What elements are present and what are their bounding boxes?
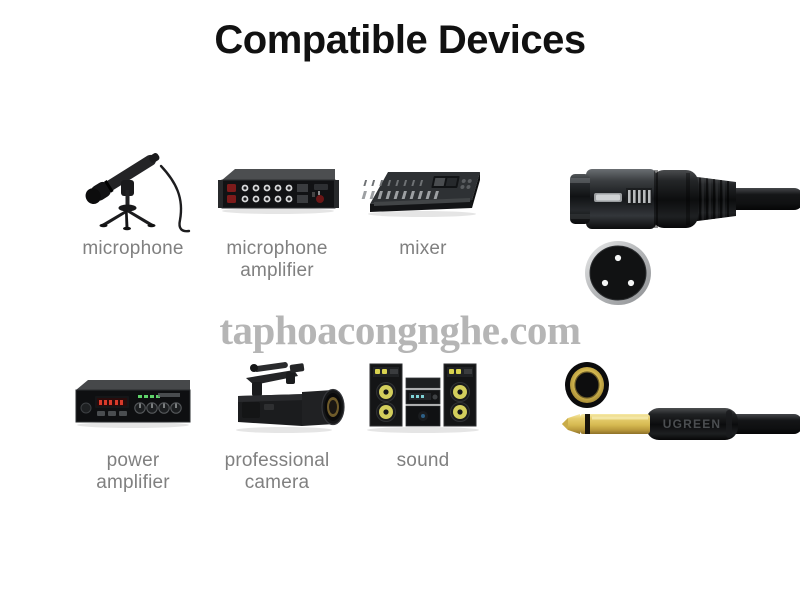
jack-brand-text: UGREEN (663, 417, 722, 431)
device-label-microphone-amplifier: microphone amplifier (202, 238, 352, 282)
device-cell-professional-camera: professional camera (202, 340, 352, 494)
device-label-line1: microphone (202, 238, 352, 260)
device-label-line1: professional (202, 450, 352, 472)
device-label-line2: amplifier (58, 472, 208, 494)
professional-camera-icon (202, 340, 352, 450)
microphone-icon (58, 128, 208, 238)
device-cell-microphone-amplifier: microphone amplifier (202, 128, 352, 282)
device-label-mixer: mixer (348, 238, 498, 260)
power-amplifier-icon (58, 340, 208, 450)
device-label-sound: sound (348, 450, 498, 472)
device-cell-power-amplifier: power amplifier (58, 340, 208, 494)
jack-socket-face (565, 362, 609, 408)
device-label-microphone: microphone (58, 238, 208, 260)
xlr-pin-face (585, 241, 651, 305)
microphone-amplifier-icon (202, 128, 352, 238)
device-label-line1: power (58, 450, 208, 472)
device-label-line2: amplifier (202, 260, 352, 282)
device-label-professional-camera: professional camera (202, 450, 352, 494)
xlr-connector-image (540, 150, 800, 315)
device-cell-mixer: mixer (348, 128, 498, 260)
sound-system-icon (348, 340, 498, 450)
device-cell-microphone: microphone (58, 128, 208, 260)
quarter-inch-jack-image: UGREEN (540, 358, 800, 473)
device-label-power-amplifier: power amplifier (58, 450, 208, 494)
page-title: Compatible Devices (0, 18, 800, 62)
mixer-icon (348, 128, 498, 238)
device-label-line2: camera (202, 472, 352, 494)
device-cell-sound: sound (348, 340, 498, 472)
